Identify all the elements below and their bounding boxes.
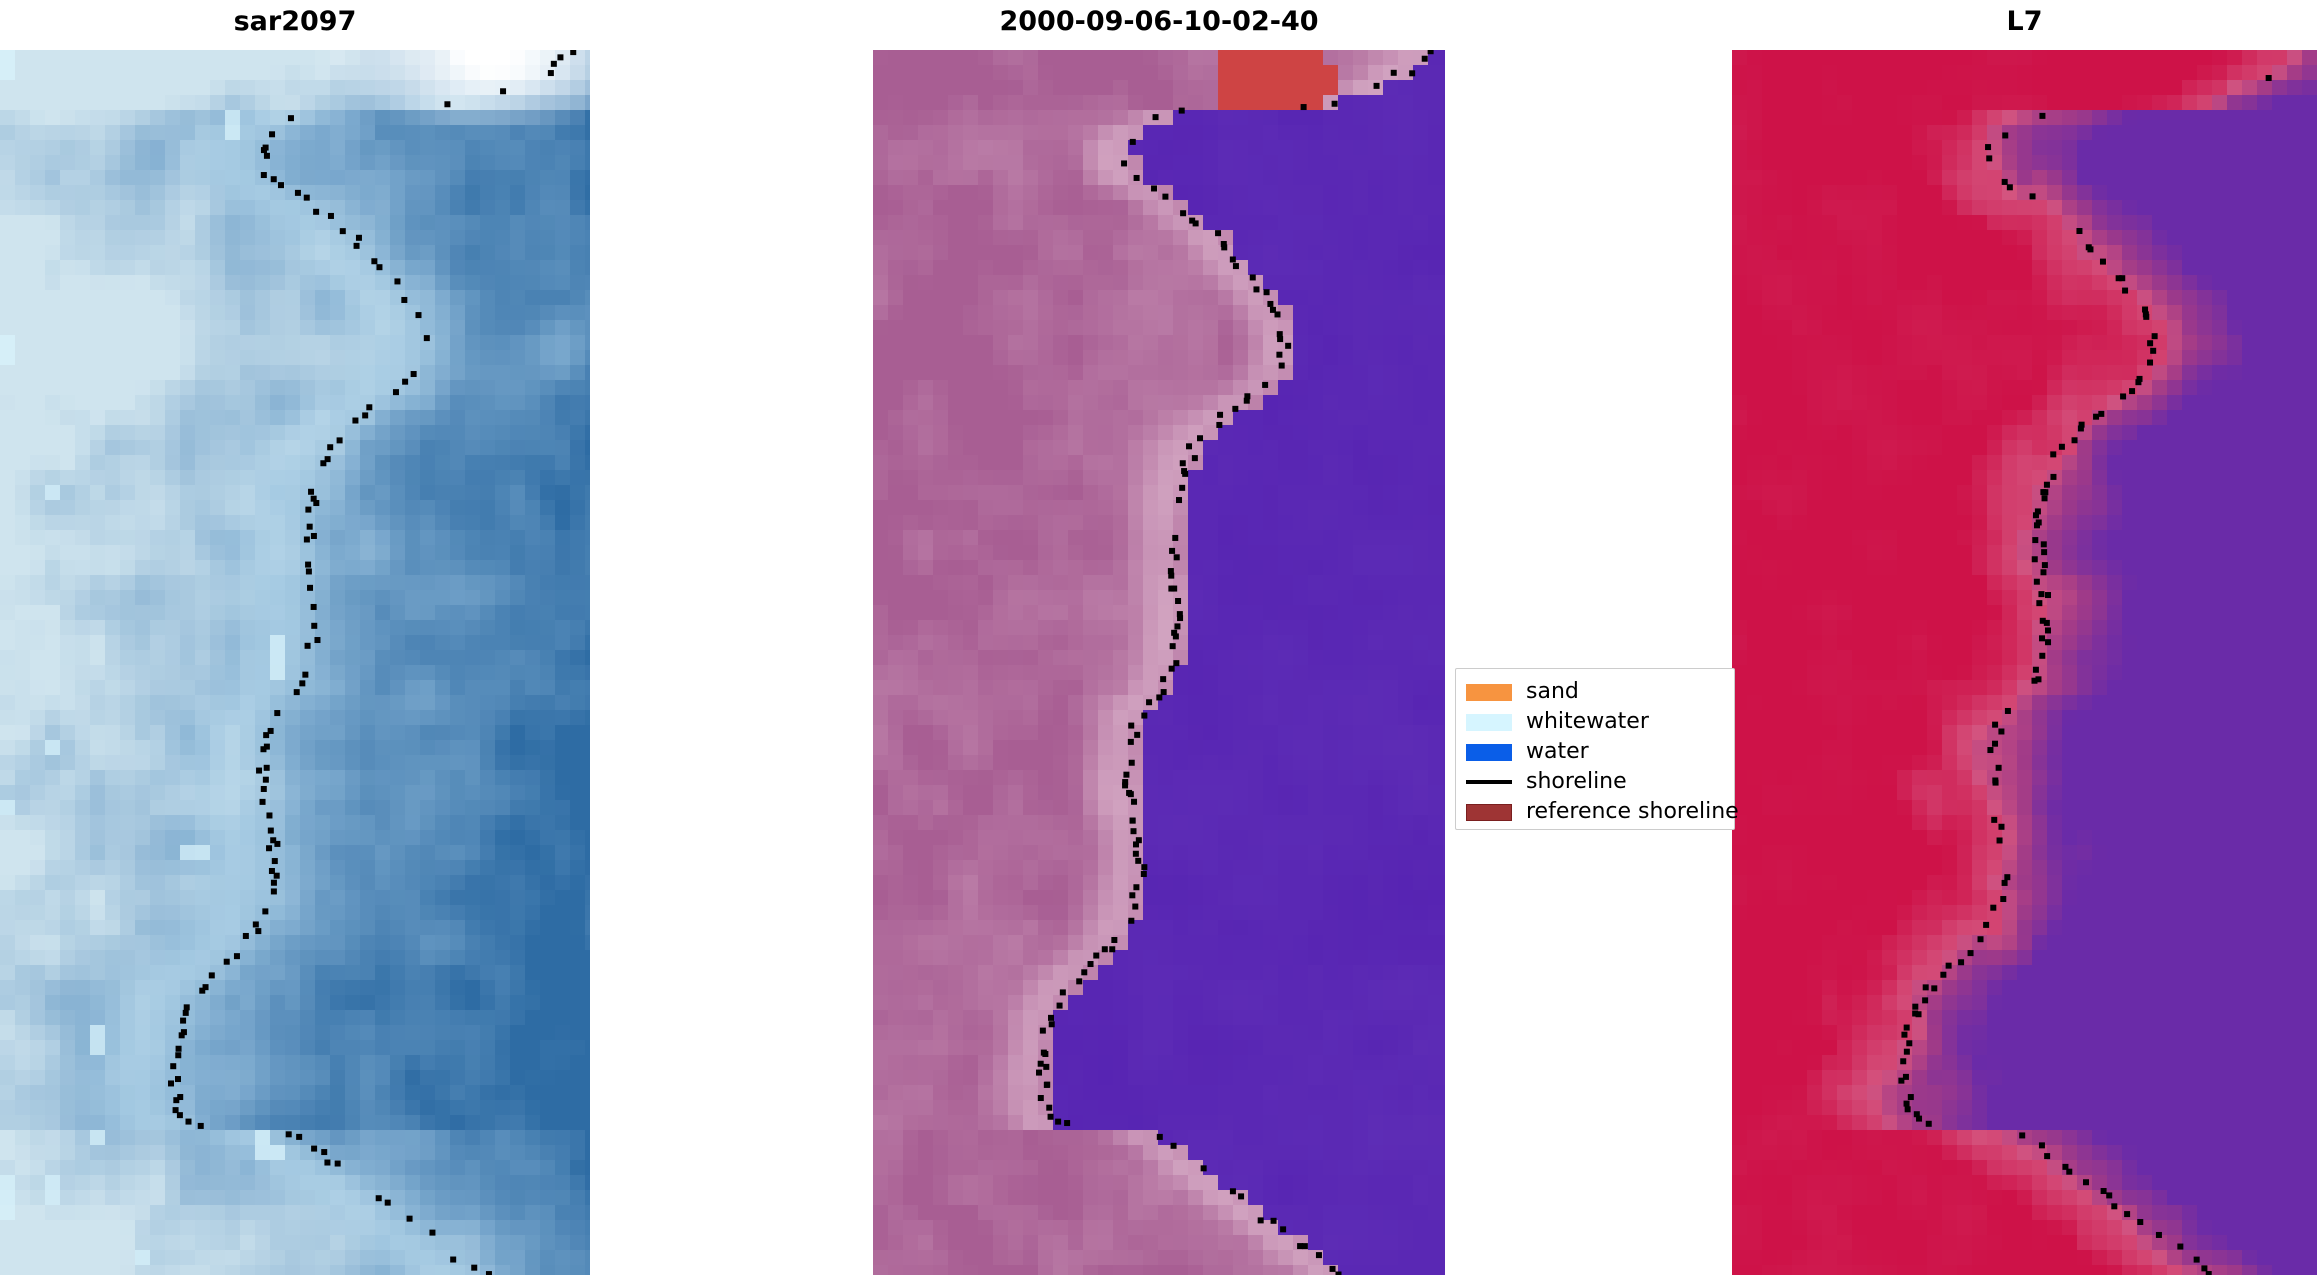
panel-title-classified-image: 2000-09-06-10-02-40 (873, 8, 1445, 35)
legend: sand whitewater water shoreline referenc… (1455, 668, 1735, 830)
panel-title-sar2097: sar2097 (0, 8, 590, 35)
legend-label-water: water (1526, 741, 1589, 763)
legend-swatch-water (1466, 744, 1512, 761)
legend-item-sand: sand (1466, 677, 1724, 707)
legend-label-reference-shoreline: reference shoreline (1526, 801, 1739, 823)
legend-label-whitewater: whitewater (1526, 711, 1649, 733)
panel-title-l7: L7 (1732, 8, 2317, 35)
legend-swatch-whitewater (1466, 714, 1512, 731)
figure-canvas: sar2097 2000-09-06-10-02-40 L7 sand whit… (0, 0, 2317, 1283)
panel-classified-image: 2000-09-06-10-02-40 (873, 0, 1445, 1275)
raster-image-sar2097 (0, 50, 590, 1275)
legend-label-shoreline: shoreline (1526, 771, 1627, 793)
panel-sar2097: sar2097 (0, 0, 590, 1275)
raster-image-l7 (1732, 50, 2317, 1275)
legend-item-whitewater: whitewater (1466, 707, 1724, 737)
legend-item-reference-shoreline: reference shoreline (1466, 797, 1724, 827)
legend-item-water: water (1466, 737, 1724, 767)
legend-swatch-sand (1466, 684, 1512, 701)
legend-item-shoreline: shoreline (1466, 767, 1724, 797)
legend-label-sand: sand (1526, 681, 1579, 703)
raster-image-classified (873, 50, 1445, 1275)
legend-swatch-shoreline (1466, 780, 1512, 784)
panel-l7: L7 (1732, 0, 2317, 1275)
legend-swatch-reference-shoreline (1466, 804, 1512, 821)
